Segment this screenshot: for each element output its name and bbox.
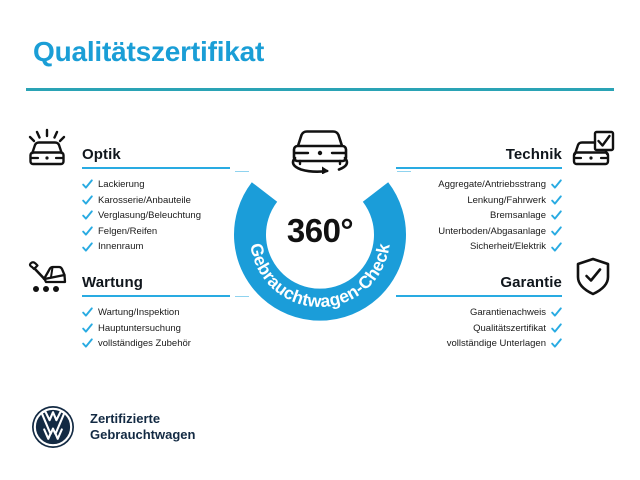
footer-brand: Zertifizierte Gebrauchtwagen	[30, 404, 195, 450]
section-heading-garantie: Garantie	[406, 256, 562, 291]
list-item-label: Felgen/Reifen	[98, 224, 157, 240]
list-item: Lackierung	[82, 177, 230, 193]
check-icon	[82, 210, 93, 221]
section-optik: Optik Lackierung Karosserie/Anbauteile V…	[24, 128, 230, 255]
title-divider	[26, 88, 614, 91]
footer-line-1: Zertifizierte	[90, 411, 195, 427]
list-item: Qualitätszertifikat	[406, 321, 562, 337]
list-item: Verglasung/Beleuchtung	[82, 208, 230, 224]
check-icon	[82, 323, 93, 334]
section-garantie: Garantie Garantienachweis Qualitätszerti…	[406, 256, 616, 352]
check-icon	[82, 307, 93, 318]
check-icon	[551, 195, 562, 206]
section-heading-optik: Optik	[82, 128, 230, 163]
list-item: vollständige Unterlagen	[406, 336, 562, 352]
car-shine-icon	[24, 128, 70, 170]
car-rotate-360-icon	[281, 122, 359, 174]
list-item-label: Aggregate/Antriebsstrang	[438, 177, 546, 193]
list-item: Unterboden/Abgasanlage	[406, 224, 562, 240]
list-item-label: Sicherheit/Elektrik	[470, 239, 546, 255]
list-item-label: Unterboden/Abgasanlage	[438, 224, 546, 240]
footer-brand-text: Zertifizierte Gebrauchtwagen	[90, 411, 195, 443]
section-wartung: Wartung Wartung/Inspektion Hauptuntersuc…	[24, 256, 230, 352]
section-divider-optik	[82, 167, 230, 169]
check-icon	[551, 179, 562, 190]
car-checkbox-icon	[570, 128, 616, 170]
list-item: Bremsanlage	[406, 208, 562, 224]
checklist-garantie: Garantienachweis Qualitätszertifikat vol…	[406, 305, 562, 352]
check-icon	[82, 195, 93, 206]
section-heading-technik: Technik	[406, 128, 562, 163]
list-item: vollständiges Zubehör	[82, 336, 230, 352]
list-item-label: Lackierung	[98, 177, 144, 193]
car-service-wrench-icon	[24, 256, 70, 298]
list-item-label: Qualitätszertifikat	[473, 321, 546, 337]
section-divider-wartung	[82, 295, 230, 297]
section-technik: Technik Aggregate/Antriebsstrang Lenkung…	[406, 128, 616, 255]
list-item-label: Verglasung/Beleuchtung	[98, 208, 201, 224]
list-item-label: Wartung/Inspektion	[98, 305, 180, 321]
list-item-label: Hauptuntersuchung	[98, 321, 181, 337]
list-item: Lenkung/Fahrwerk	[406, 193, 562, 209]
list-item: Karosserie/Anbauteile	[82, 193, 230, 209]
list-item-label: Innenraum	[98, 239, 143, 255]
check-icon	[82, 338, 93, 349]
list-item-label: vollständiges Zubehör	[98, 336, 191, 352]
section-divider-garantie	[396, 295, 562, 297]
check-icon	[551, 323, 562, 334]
check-icon	[551, 226, 562, 237]
badge-center-label: 360°	[233, 212, 407, 250]
list-item-label: Lenkung/Fahrwerk	[467, 193, 546, 209]
list-item: Garantienachweis	[406, 305, 562, 321]
check-icon	[551, 210, 562, 221]
checklist-optik: Lackierung Karosserie/Anbauteile Verglas…	[82, 177, 230, 255]
check-icon	[82, 242, 93, 253]
footer-line-2: Gebrauchtwagen	[90, 427, 195, 443]
list-item-label: vollständige Unterlagen	[447, 336, 546, 352]
check-icon	[82, 226, 93, 237]
list-item: Innenraum	[82, 239, 230, 255]
check-icon	[551, 307, 562, 318]
certificate-page: Qualitätszertifikat Opti	[0, 0, 640, 480]
list-item: Felgen/Reifen	[82, 224, 230, 240]
shield-check-icon	[570, 256, 616, 298]
check-icon	[551, 242, 562, 253]
list-item: Sicherheit/Elektrik	[406, 239, 562, 255]
checklist-wartung: Wartung/Inspektion Hauptuntersuchung vol…	[82, 305, 230, 352]
check-icon	[82, 179, 93, 190]
list-item-label: Garantienachweis	[470, 305, 546, 321]
list-item-label: Karosserie/Anbauteile	[98, 193, 191, 209]
list-item: Hauptuntersuchung	[82, 321, 230, 337]
volkswagen-logo	[30, 404, 76, 450]
section-divider-technik	[396, 167, 562, 169]
check-icon	[551, 338, 562, 349]
list-item: Aggregate/Antriebsstrang	[406, 177, 562, 193]
section-heading-wartung: Wartung	[82, 256, 230, 291]
list-item-label: Bremsanlage	[490, 208, 546, 224]
badge-360-gebrauchtwagen-check: Gebrauchtwagen-Check 360°	[233, 150, 407, 324]
page-title: Qualitätszertifikat	[33, 36, 264, 68]
checklist-technik: Aggregate/Antriebsstrang Lenkung/Fahrwer…	[406, 177, 562, 255]
list-item: Wartung/Inspektion	[82, 305, 230, 321]
